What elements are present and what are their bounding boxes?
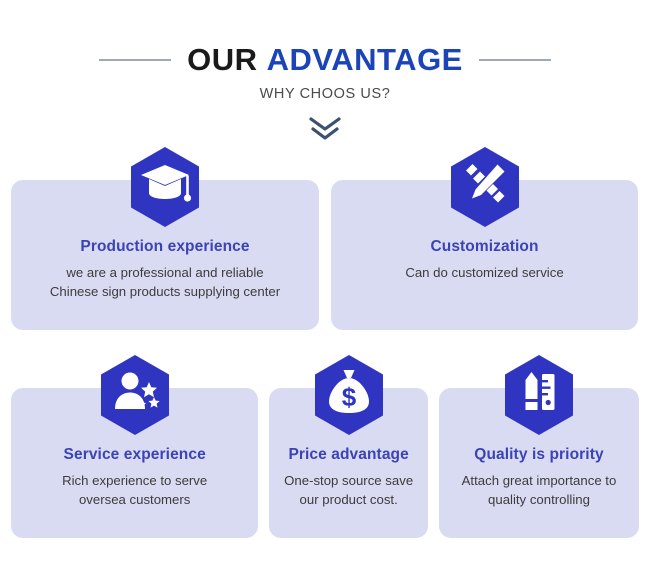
page-title-part2: ADVANTAGE xyxy=(267,42,463,77)
icon-badge xyxy=(11,353,258,437)
advantage-card-service-experience[interactable]: Service experience Rich experience to se… xyxy=(11,388,258,538)
advantage-card-desc: Rich experience to serve oversea custome… xyxy=(21,472,248,509)
advantage-card-customization[interactable]: Customization Can do customized service xyxy=(331,180,638,330)
advantage-card-production-experience[interactable]: Production experience we are a professio… xyxy=(11,180,319,330)
page-title: OUR ADVANTAGE xyxy=(187,44,463,77)
advantage-card-title: Service experience xyxy=(11,446,258,464)
person-with-stars-icon xyxy=(97,353,173,437)
advantage-card-price-advantage[interactable]: $ Price advantage One-stop source save o… xyxy=(269,388,428,538)
graduation-cap-icon xyxy=(127,145,203,229)
page-subtitle: WHY CHOOS US? xyxy=(0,86,650,102)
double-chevron-down-icon xyxy=(0,116,650,142)
pen-pencil-cross-icon xyxy=(447,145,523,229)
advantage-card-title: Quality is priority xyxy=(439,446,639,464)
advantage-card-desc: Can do customized service xyxy=(341,264,628,283)
decorative-rule-left-icon xyxy=(99,59,171,61)
page-header: OUR ADVANTAGE WHY CHOOS US? xyxy=(0,0,650,142)
pencil-ruler-icon xyxy=(501,353,577,437)
title-row: OUR ADVANTAGE xyxy=(0,44,650,77)
icon-badge xyxy=(11,145,319,229)
advantage-card-desc: we are a professional and reliable Chine… xyxy=(21,264,309,301)
advantage-card-desc: Attach great importance to quality contr… xyxy=(449,472,629,509)
money-bag-dollar-icon: $ xyxy=(311,353,387,437)
page-title-part1: OUR xyxy=(187,42,257,77)
icon-badge xyxy=(331,145,638,229)
advantage-card-title: Production experience xyxy=(11,238,319,256)
advantage-card-quality-is-priority[interactable]: Quality is priority Attach great importa… xyxy=(439,388,639,538)
svg-text:$: $ xyxy=(341,382,356,412)
advantage-card-title: Customization xyxy=(331,238,638,256)
advantage-row-bottom: Service experience Rich experience to se… xyxy=(0,388,650,538)
decorative-rule-right-icon xyxy=(479,59,551,61)
icon-badge: $ xyxy=(269,353,428,437)
icon-badge xyxy=(439,353,639,437)
advantage-card-desc: One-stop source save our product cost. xyxy=(279,472,418,509)
advantage-row-top: Production experience we are a professio… xyxy=(0,180,650,330)
advantage-card-title: Price advantage xyxy=(269,446,428,464)
